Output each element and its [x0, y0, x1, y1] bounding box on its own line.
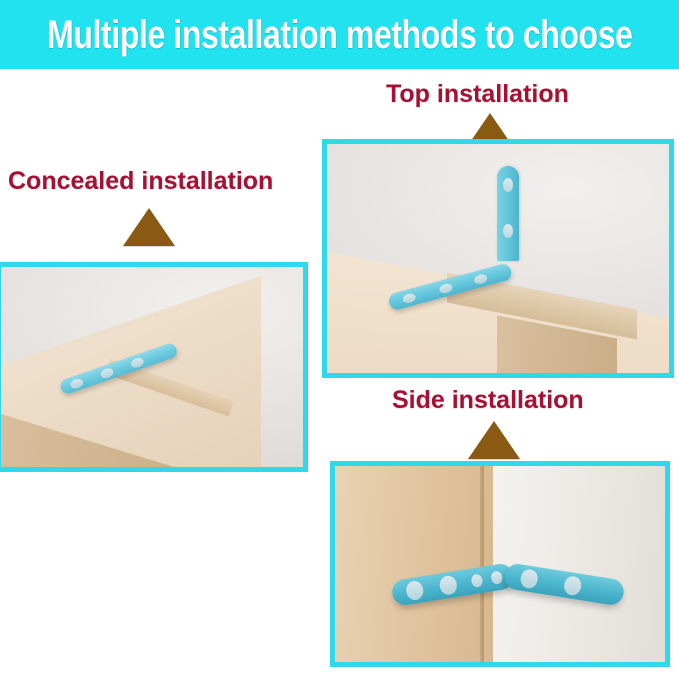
screw-hole [473, 273, 488, 285]
caption-top-installation: Top installation [386, 80, 569, 108]
screw-hole [563, 575, 583, 596]
photo-top-installation [327, 144, 669, 373]
caption-concealed-installation: Concealed installation [8, 167, 273, 195]
cabinet-corner-seam [480, 466, 484, 662]
screw-hole [438, 282, 453, 294]
photo-panel-side-installation [330, 461, 670, 667]
screw-hole [99, 366, 114, 379]
screw-hole [130, 356, 145, 369]
photo-panel-top-installation [322, 139, 674, 378]
up-triangle-icon-concealed [123, 208, 175, 246]
page-title: Multiple installation methods to choose [47, 13, 632, 57]
safety-strap-vertical-arm [497, 166, 519, 261]
screw-hole [519, 568, 539, 589]
cabinet-side-panel [335, 466, 493, 662]
screw-hole [402, 292, 417, 304]
up-triangle-icon-side [468, 421, 520, 459]
photo-concealed-installation [1, 267, 303, 467]
screw-hole [471, 573, 484, 588]
screw-hole [503, 224, 513, 238]
photo-panel-concealed-installation [0, 262, 308, 472]
caption-side-installation: Side installation [392, 386, 584, 414]
screw-hole [490, 570, 503, 585]
infographic-canvas: Multiple installation methods to choose … [0, 0, 679, 679]
header-banner: Multiple installation methods to choose [0, 0, 679, 69]
photo-side-installation [335, 466, 665, 662]
screw-hole [405, 580, 425, 601]
screw-hole [438, 575, 458, 596]
screw-hole [503, 178, 513, 192]
screw-hole [69, 377, 84, 390]
